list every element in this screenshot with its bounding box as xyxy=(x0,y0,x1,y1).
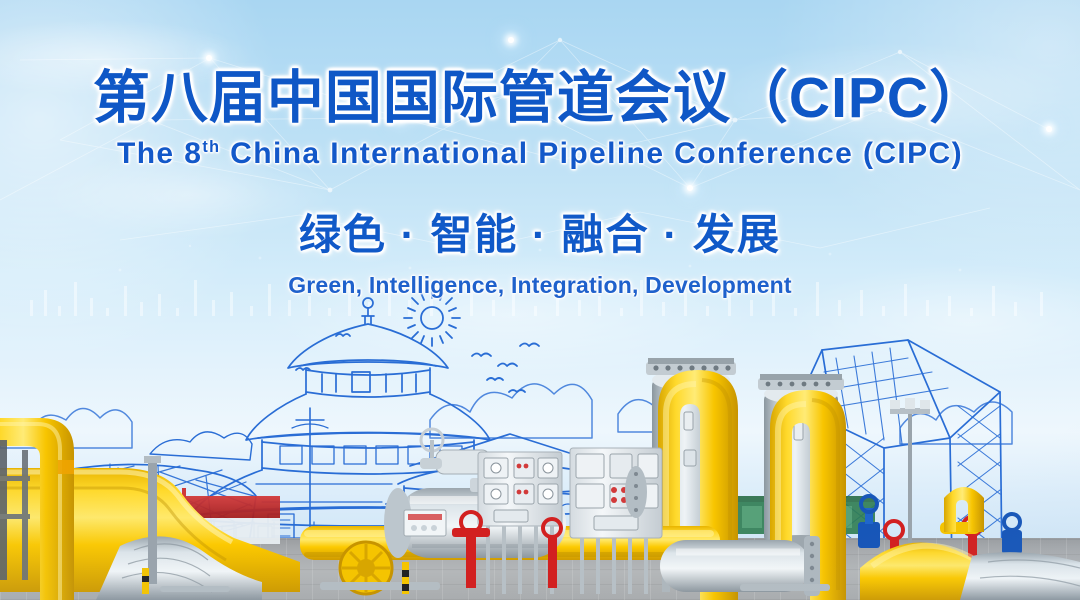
tagline-cn: 绿色 · 智能 · 融合 · 发展 xyxy=(0,201,1080,262)
pressure-gauge xyxy=(484,484,558,504)
conference-banner: 第八届中国国际管道会议（CIPC） The 8th China Internat… xyxy=(0,0,1080,600)
tagline-en: Green, Intelligence, Integration, Develo… xyxy=(0,272,1080,299)
page-title-en: The 8th China International Pipeline Con… xyxy=(0,137,1080,171)
pressure-gauge xyxy=(484,458,558,478)
gas-pipeline-plant xyxy=(0,300,1080,600)
title-en-prefix: The 8 xyxy=(117,137,202,170)
floodlight-mast xyxy=(890,398,930,552)
page-title-cn: 第八届中国国际管道会议（CIPC） xyxy=(0,68,1080,130)
insulated-elbow xyxy=(960,552,1080,600)
headline-block: 第八届中国国际管道会议（CIPC） The 8th China Internat… xyxy=(0,0,1080,299)
title-en-ordinal-suffix: th xyxy=(202,138,220,156)
title-en-rest: China International Pipeline Conference … xyxy=(220,137,963,170)
junction-box xyxy=(404,510,446,536)
